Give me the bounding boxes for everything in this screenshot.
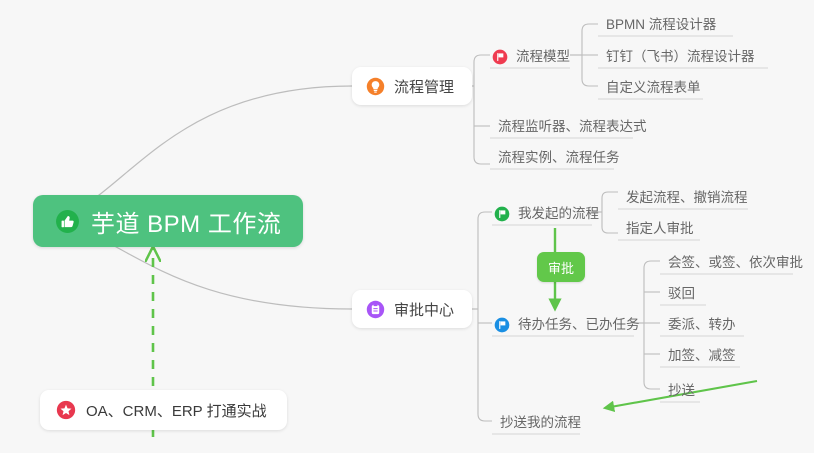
root-node[interactable]: 芋道 BPM 工作流 xyxy=(33,195,303,247)
node-process-model[interactable]: 流程模型 xyxy=(490,42,578,68)
root-label: 芋道 BPM 工作流 xyxy=(91,204,281,239)
edge-model-customform xyxy=(582,79,598,86)
branch-approval-center[interactable]: 审批中心 xyxy=(352,290,472,328)
node-bpmn-designer[interactable]: BPMN 流程设计器 xyxy=(598,10,724,36)
node-cc-label: 抄送 xyxy=(668,383,695,399)
node-add-remove-sign-label: 加签、减签 xyxy=(668,348,736,364)
flag-red-icon xyxy=(492,49,508,65)
node-reject-label: 驳回 xyxy=(668,286,695,302)
node-todo-done-label: 待办任务、已办任务 xyxy=(518,317,640,333)
node-cc-my-process[interactable]: 抄送我的流程 xyxy=(492,408,589,434)
edge-initiated-assignee xyxy=(602,227,618,233)
lightbulb-icon xyxy=(366,77,385,96)
flag-blue-icon xyxy=(494,317,510,333)
branch-process-management[interactable]: 流程管理 xyxy=(352,67,472,105)
branch-process-management-label: 流程管理 xyxy=(394,76,454,97)
edge-model-bpmn xyxy=(582,24,598,31)
node-listener-expression-label: 流程监听器、流程表达式 xyxy=(498,119,647,135)
branch-approval-center-label: 审批中心 xyxy=(394,299,454,320)
node-todo-done[interactable]: 待办任务、已办任务 xyxy=(492,310,648,336)
mindmap-canvas: 芋道 BPM 工作流 OA、CRM、ERP 打通实战 流程管理 xyxy=(0,0,814,453)
node-dingtalk-feishu-designer-label: 钉钉（飞书）流程设计器 xyxy=(606,49,755,65)
node-dingtalk-feishu-designer[interactable]: 钉钉（飞书）流程设计器 xyxy=(598,42,763,68)
footnote-label: OA、CRM、ERP 打通实战 xyxy=(86,400,267,421)
star-icon xyxy=(56,400,76,420)
footnote-node[interactable]: OA、CRM、ERP 打通实战 xyxy=(40,390,287,430)
node-bpmn-designer-label: BPMN 流程设计器 xyxy=(606,17,716,33)
node-custom-process-form-label: 自定义流程表单 xyxy=(606,80,701,96)
edge-todo-cc xyxy=(644,382,660,389)
node-custom-process-form[interactable]: 自定义流程表单 xyxy=(598,73,709,99)
edge-todo-countersign xyxy=(644,261,660,268)
clipboard-icon xyxy=(366,300,385,319)
edge-pm-branch-model xyxy=(474,55,490,62)
node-delegate-transfer-label: 委派、转办 xyxy=(668,317,736,333)
flag-green-icon xyxy=(494,206,510,222)
node-listener-expression[interactable]: 流程监听器、流程表达式 xyxy=(490,112,655,138)
node-start-cancel-label: 发起流程、撤销流程 xyxy=(626,190,748,206)
node-instance-task[interactable]: 流程实例、流程任务 xyxy=(490,143,628,169)
edge-ac-branch-initiated xyxy=(478,212,492,219)
approval-flow-badge-label: 审批 xyxy=(548,258,574,277)
approval-flow-badge[interactable]: 审批 xyxy=(537,252,585,282)
node-my-initiated-label: 我发起的流程 xyxy=(518,206,599,222)
edge-pm-branch-instance xyxy=(474,157,490,164)
node-instance-task-label: 流程实例、流程任务 xyxy=(498,150,620,166)
thumbs-up-icon xyxy=(55,209,80,234)
edge-ac-branch-cc xyxy=(478,414,492,421)
node-add-remove-sign[interactable]: 加签、减签 xyxy=(660,341,744,367)
node-countersign-label: 会签、或签、依次审批 xyxy=(668,255,803,271)
node-process-model-label: 流程模型 xyxy=(516,49,570,65)
node-my-initiated[interactable]: 我发起的流程 xyxy=(492,199,607,225)
node-countersign[interactable]: 会签、或签、依次审批 xyxy=(660,248,811,274)
node-cc-my-process-label: 抄送我的流程 xyxy=(500,415,581,431)
edge-initiated-start xyxy=(602,192,618,198)
node-cc[interactable]: 抄送 xyxy=(660,376,703,402)
node-reject[interactable]: 驳回 xyxy=(660,279,703,305)
node-delegate-transfer[interactable]: 委派、转办 xyxy=(660,310,744,336)
node-start-cancel[interactable]: 发起流程、撤销流程 xyxy=(618,183,756,209)
node-assignee-approval-label: 指定人审批 xyxy=(626,221,694,237)
node-assignee-approval[interactable]: 指定人审批 xyxy=(618,214,702,240)
